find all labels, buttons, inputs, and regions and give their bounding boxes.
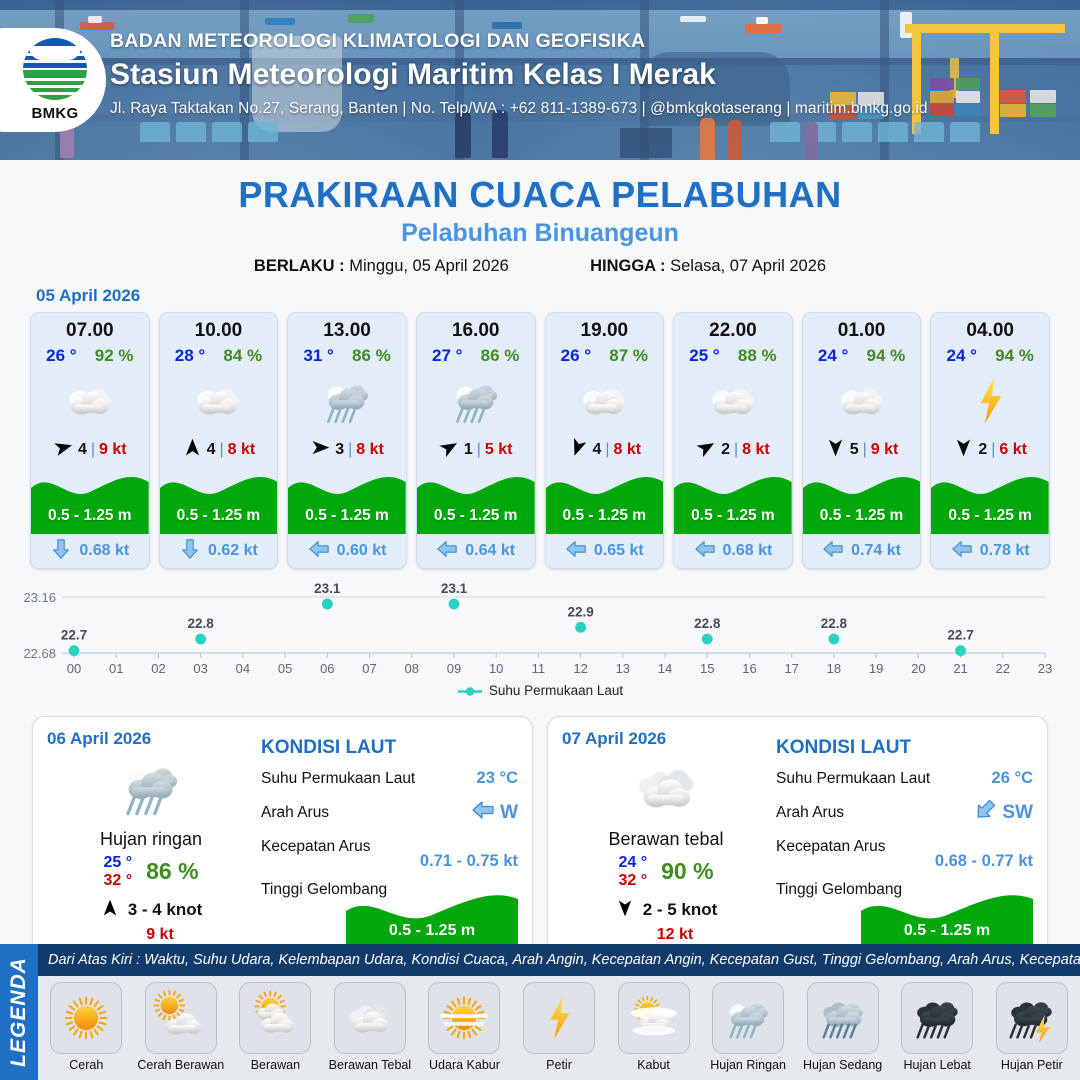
fog-icon [618,982,690,1054]
daily-condition: Hujan ringan [47,829,255,850]
svg-text:07: 07 [362,661,376,676]
daily-temp-min: 24 ° [618,854,647,872]
card-wind: 5|9 kt [803,434,921,466]
card-wind-speed: 4 [207,441,216,459]
legend-item-label: Petir [546,1058,572,1072]
card-wave: 0.5 - 1.25 m [288,468,406,534]
daily-wind-range: 3 - 4 knot [128,900,203,920]
svg-text:22: 22 [996,661,1010,676]
svg-text:16: 16 [742,661,756,676]
cloudy-sun-icon [674,368,792,434]
card-current: 0.74 kt [803,534,921,568]
rain-heavy-icon [901,982,973,1054]
daily-temp-max: 32 ° [618,872,647,890]
card-wind-speed: 2 [721,441,730,459]
card-current: 0.62 kt [160,534,278,568]
daily-forecast-row: 06 April 2026Hujan ringan25 °32 °86 %3 -… [0,716,1080,964]
cloud-thick-icon [562,749,770,827]
daily-wave-graphic: 0.5 - 1.25 m [861,887,1033,949]
card-wave-height: 0.5 - 1.25 m [160,507,278,525]
card-gust-speed: 5 kt [485,441,513,459]
svg-text:08: 08 [405,661,419,676]
legend-item: Kabut [609,982,698,1072]
cloudy-sun-icon [803,368,921,434]
card-time: 22.00 [674,313,792,342]
card-humidity: 84 % [223,346,262,366]
svg-text:09: 09 [447,661,461,676]
bmkg-logo: BMKG [0,28,106,132]
card-humidity: 87 % [609,346,648,366]
wind-direction-arrow-icon [100,898,120,923]
hourly-card: 04.0024 °94 %2|6 kt0.5 - 1.25 m0.78 kt [930,312,1050,569]
header-contact-info: Jl. Raya Taktakan No.27, Serang, Banten … [110,100,928,118]
svg-text:13: 13 [616,661,630,676]
cloud-thick-icon [334,982,406,1054]
card-time: 10.00 [160,313,278,342]
card-current: 0.78 kt [931,534,1049,568]
legend-item: Hujan Ringan [704,982,793,1072]
hourly-card: 10.0028 °84 %4|8 kt0.5 - 1.25 m0.62 kt [159,312,279,569]
svg-text:22.7: 22.7 [947,628,973,643]
card-wave: 0.5 - 1.25 m [803,468,921,534]
wind-direction-arrow-icon [825,437,846,463]
svg-text:03: 03 [193,661,207,676]
svg-text:12: 12 [573,661,587,676]
card-humidity: 94 % [995,346,1034,366]
valid-until-value: Selasa, 07 April 2026 [670,257,826,275]
sea-conditions-title: KONDISI LAUT [261,737,518,759]
daily-wave-value: 0.5 - 1.25 m [861,922,1033,940]
page-header: BMKG BADAN METEOROLOGI KLIMATOLOGI DAN G… [0,0,1080,160]
current-direction-arrow-icon [694,538,716,565]
card-time: 01.00 [803,313,921,342]
card-wave: 0.5 - 1.25 m [546,468,664,534]
thunder-icon [523,982,595,1054]
card-temperature: 26 ° [46,346,76,366]
card-wind: 2|8 kt [674,434,792,466]
svg-text:23: 23 [1038,661,1052,676]
rain-light-icon [288,368,406,434]
svg-text:20: 20 [911,661,925,676]
rain-light-icon [47,749,255,827]
card-wind: 4|8 kt [160,434,278,466]
card-wind: 4|8 kt [546,434,664,466]
card-temperature: 31 ° [303,346,333,366]
legend-item-label: Cerah Berawan [137,1058,224,1072]
hourly-card: 13.0031 °86 %3|8 kt0.5 - 1.25 m0.60 kt [287,312,407,569]
hourly-card: 22.0025 °88 %2|8 kt0.5 - 1.25 m0.68 kt [673,312,793,569]
svg-text:05: 05 [278,661,292,676]
card-time: 07.00 [31,313,149,342]
current-direction-arrow-icon [50,538,72,565]
current-direction-arrow-icon [436,538,458,565]
legend-marker-icon [457,685,483,696]
card-wave: 0.5 - 1.25 m [674,468,792,534]
card-gust-speed: 6 kt [999,441,1027,459]
legend-item-label: Hujan Ringan [710,1058,786,1072]
card-wind-speed: 4 [592,441,601,459]
rain-thunder-icon [996,982,1068,1054]
sst-value: 23 °C [477,769,518,788]
current-direction-arrow-icon [308,538,330,565]
card-current-speed: 0.62 kt [208,542,258,560]
svg-text:22.9: 22.9 [567,604,593,619]
header-station-name: Stasiun Meteorologi Maritim Kelas I Mera… [110,58,928,92]
card-wind-speed: 5 [850,441,859,459]
wind-direction-arrow-icon [310,437,331,463]
card-wind-speed: 1 [464,441,473,459]
card-time: 04.00 [931,313,1049,342]
rain-light-icon [712,982,784,1054]
card-temperature: 28 ° [175,346,205,366]
legend-item-label: Cerah [69,1058,103,1072]
legend-item-label: Hujan Sedang [803,1058,882,1072]
current-direction-arrow-icon [471,798,495,828]
card-current-speed: 0.65 kt [594,542,644,560]
card-wave: 0.5 - 1.25 m [417,468,535,534]
chart-legend: Suhu Permukaan Laut [0,683,1080,698]
svg-text:17: 17 [784,661,798,676]
card-wave-height: 0.5 - 1.25 m [546,507,664,525]
sst-chart: 23.1622.68000102030405060708091011121314… [0,581,1080,706]
cloudy-sun-icon [546,368,664,434]
card-wind-speed: 3 [335,441,344,459]
cloudy-sun-icon [160,368,278,434]
hourly-card: 19.0026 °87 %4|8 kt0.5 - 1.25 m0.65 kt [545,312,665,569]
sea-conditions-title: KONDISI LAUT [776,737,1033,759]
legend-item: Petir [515,982,604,1072]
legend-side-label: LEGENDA [7,957,31,1067]
wind-direction-arrow-icon [567,437,588,463]
legend-item: Berawan Tebal [326,982,415,1072]
cloudy-sun-icon [31,368,149,434]
card-current-speed: 0.68 kt [79,542,129,560]
wind-direction-arrow-icon [53,437,74,463]
legend-series-label: Suhu Permukaan Laut [489,683,623,698]
card-current: 0.60 kt [288,534,406,568]
card-humidity: 92 % [95,346,134,366]
bmkg-logo-circle [23,38,87,100]
svg-text:22.8: 22.8 [821,616,848,631]
card-wave-height: 0.5 - 1.25 m [803,507,921,525]
legend-note: Dari Atas Kiri : Waktu, Suhu Udara, Kele… [38,944,1080,976]
card-current-speed: 0.78 kt [980,542,1030,560]
legend-item-label: Udara Kabur [429,1058,500,1072]
card-current-speed: 0.64 kt [465,542,515,560]
card-wave-height: 0.5 - 1.25 m [288,507,406,525]
card-wave: 0.5 - 1.25 m [931,468,1049,534]
card-current-speed: 0.74 kt [851,542,901,560]
card-gust-speed: 8 kt [228,441,256,459]
svg-text:04: 04 [236,661,250,676]
daily-humidity: 86 % [146,858,198,885]
card-wave-height: 0.5 - 1.25 m [931,507,1049,525]
legend-item-label: Hujan Petir [1001,1058,1063,1072]
svg-text:10: 10 [489,661,503,676]
legend-item: Cerah [42,982,131,1072]
svg-text:06: 06 [320,661,334,676]
card-time: 13.00 [288,313,406,342]
legend-item-label: Kabut [637,1058,670,1072]
daily-wave-graphic: 0.5 - 1.25 m [346,887,518,949]
daily-forecast-panel: 07 April 2026Berawan tebal24 °32 °90 %2 … [547,716,1048,964]
hourly-card: 16.0027 °86 %1|5 kt0.5 - 1.25 m0.64 kt [416,312,536,569]
svg-text:18: 18 [827,661,841,676]
daily-condition: Berawan tebal [562,829,770,850]
daily-temp-max: 32 ° [103,872,132,890]
current-direction-value: SW [1002,802,1033,824]
legend-item-label: Hujan Lebat [903,1058,970,1072]
sun-cloud-icon [145,982,217,1054]
wind-direction-arrow-icon [953,437,974,463]
card-gust-speed: 8 kt [742,441,770,459]
daily-wind: 2 - 5 knot [562,898,770,923]
haze-icon [428,982,500,1054]
svg-text:23.1: 23.1 [314,581,341,596]
card-wave-height: 0.5 - 1.25 m [674,507,792,525]
legend-item: Hujan Sedang [798,982,887,1072]
svg-text:22.8: 22.8 [694,616,721,631]
sst-label: Suhu Permukaan Laut [776,770,992,788]
svg-text:22.7: 22.7 [61,628,87,643]
card-wind: 1|5 kt [417,434,535,466]
card-gust-speed: 9 kt [99,441,127,459]
svg-text:21: 21 [953,661,967,676]
legend-item-label: Berawan [251,1058,300,1072]
card-wave-height: 0.5 - 1.25 m [31,507,149,525]
wind-direction-arrow-icon [182,437,203,463]
svg-text:14: 14 [658,661,672,676]
current-direction-label: Arah Arus [776,804,973,822]
card-humidity: 86 % [481,346,520,366]
svg-text:01: 01 [109,661,123,676]
legend-item: Hujan Petir [987,982,1076,1072]
title-block: PRAKIRAAN CUACA PELABUHAN Pelabuhan Binu… [0,174,1080,276]
card-temperature: 27 ° [432,346,462,366]
daily-wind-range: 2 - 5 knot [643,900,718,920]
legend-item: Cerah Berawan [137,982,226,1072]
card-humidity: 86 % [352,346,391,366]
current-direction-label: Arah Arus [261,804,471,822]
legend-item: Hujan Lebat [893,982,982,1072]
card-wind: 3|8 kt [288,434,406,466]
svg-text:15: 15 [700,661,714,676]
card-gust-speed: 8 kt [356,441,384,459]
wind-direction-arrow-icon [439,437,460,463]
card-wave: 0.5 - 1.25 m [31,468,149,534]
card-current-speed: 0.60 kt [337,542,387,560]
daily-wind: 3 - 4 knot [47,898,255,923]
valid-until-label: HINGGA : [590,257,665,275]
daily-date: 06 April 2026 [47,729,255,749]
header-organization: BADAN METEOROLOGI KLIMATOLOGI DAN GEOFIS… [110,30,928,53]
validity-row: BERLAKU : Minggu, 05 April 2026 HINGGA :… [0,257,1080,276]
daily-gust: 9 kt [47,926,255,944]
card-time: 19.00 [546,313,664,342]
card-current-speed: 0.68 kt [723,542,773,560]
card-wind: 4|9 kt [31,434,149,466]
daily-temp-min: 25 ° [103,854,132,872]
legend-side-bar: LEGENDA [0,944,38,1080]
svg-text:11: 11 [532,661,546,676]
card-wave: 0.5 - 1.25 m [160,468,278,534]
current-direction-arrow-icon [565,538,587,565]
legend-item: Udara Kabur [420,982,509,1072]
card-current: 0.65 kt [546,534,664,568]
daily-forecast-panel: 06 April 2026Hujan ringan25 °32 °86 %3 -… [32,716,533,964]
page-subtitle: Pelabuhan Binuangeun [0,219,1080,248]
wind-direction-arrow-icon [615,898,635,923]
card-time: 16.00 [417,313,535,342]
sun-icon [50,982,122,1054]
legend-item: Berawan [231,982,320,1072]
card-humidity: 94 % [867,346,906,366]
page-title: PRAKIRAAN CUACA PELABUHAN [0,174,1080,216]
card-temperature: 24 ° [818,346,848,366]
card-wind-speed: 4 [78,441,87,459]
legend-item-label: Berawan Tebal [329,1058,411,1072]
svg-text:23.16: 23.16 [23,590,56,605]
daily-date: 07 April 2026 [562,729,770,749]
current-direction-arrow-icon [179,538,201,565]
svg-text:22.8: 22.8 [188,616,215,631]
card-temperature: 26 ° [561,346,591,366]
hourly-forecast-row: 07.0026 °92 %4|9 kt0.5 - 1.25 m0.68 kt10… [0,312,1080,569]
card-current: 0.68 kt [31,534,149,568]
sst-value: 26 °C [992,769,1033,788]
thunder-icon [931,368,1049,434]
current-direction-arrow-icon [951,538,973,565]
legend-items: CerahCerah BerawanBerawanBerawan TebalUd… [38,978,1080,1072]
svg-text:02: 02 [151,661,165,676]
current-direction-arrow-icon [973,798,997,828]
svg-text:19: 19 [869,661,883,676]
hourly-card: 01.0024 °94 %5|9 kt0.5 - 1.25 m0.74 kt [802,312,922,569]
rain-light-icon [417,368,535,434]
card-wind: 2|6 kt [931,434,1049,466]
current-direction-arrow-icon [822,538,844,565]
card-current: 0.64 kt [417,534,535,568]
cloud-sun-icon [239,982,311,1054]
svg-text:23.1: 23.1 [441,581,468,596]
card-current: 0.68 kt [674,534,792,568]
wind-direction-arrow-icon [696,437,717,463]
legend-section: LEGENDA Dari Atas Kiri : Waktu, Suhu Uda… [0,944,1080,1080]
daily-humidity: 90 % [661,858,713,885]
sst-label: Suhu Permukaan Laut [261,770,477,788]
valid-from-label: BERLAKU : [254,257,345,275]
hourly-card: 07.0026 °92 %4|9 kt0.5 - 1.25 m0.68 kt [30,312,150,569]
rain-moderate-icon [807,982,879,1054]
daily-gust: 12 kt [562,926,770,944]
card-wind-speed: 2 [978,441,987,459]
bmkg-logo-text: BMKG [18,105,92,122]
valid-from-value: Minggu, 05 April 2026 [349,257,509,275]
card-wave-height: 0.5 - 1.25 m [417,507,535,525]
hourly-date: 05 April 2026 [36,286,1080,306]
card-temperature: 25 ° [689,346,719,366]
card-humidity: 88 % [738,346,777,366]
svg-text:00: 00 [67,661,81,676]
svg-text:22.68: 22.68 [23,646,56,661]
card-temperature: 24 ° [946,346,976,366]
daily-wave-value: 0.5 - 1.25 m [346,922,518,940]
card-gust-speed: 9 kt [871,441,899,459]
current-direction-value: W [500,802,518,824]
card-gust-speed: 8 kt [614,441,642,459]
